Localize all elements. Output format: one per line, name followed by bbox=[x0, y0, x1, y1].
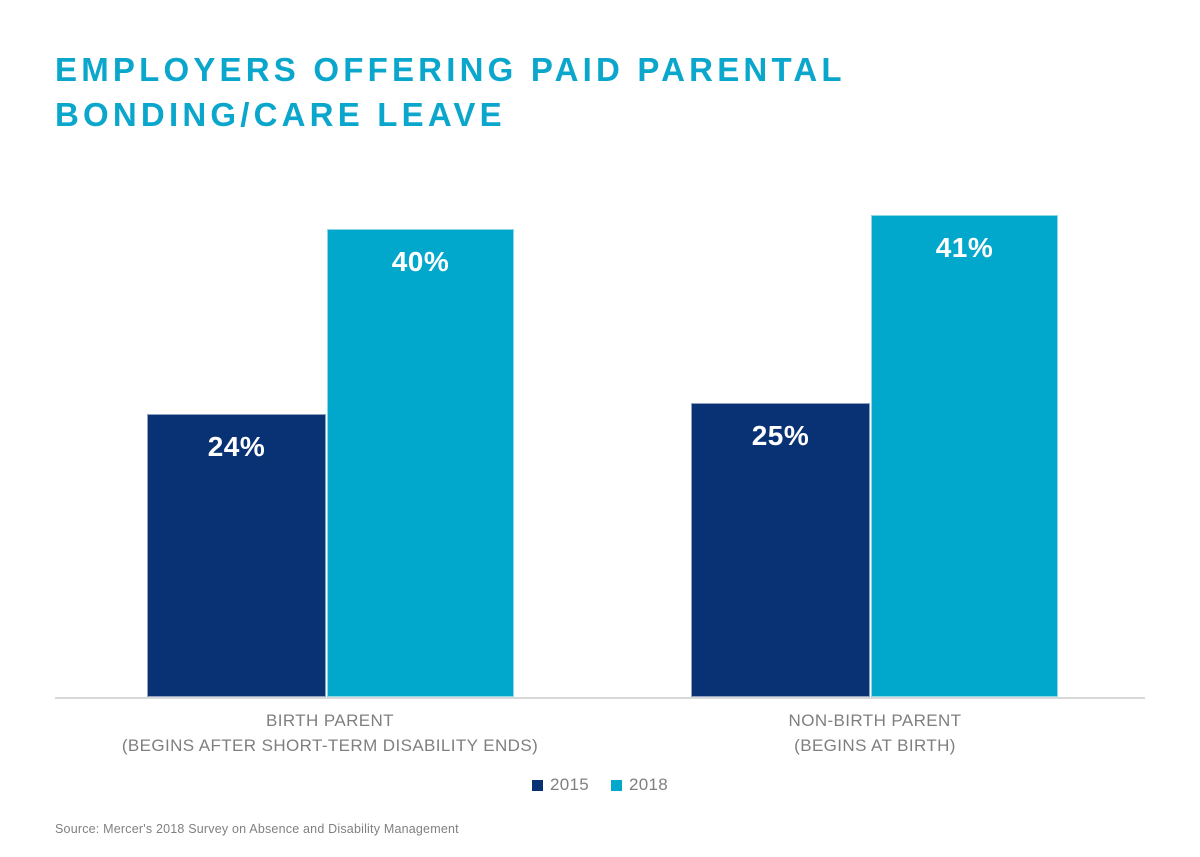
chart-legend: 2015 2018 bbox=[0, 775, 1200, 795]
bar-value-label: 40% bbox=[328, 246, 513, 278]
square-swatch-icon bbox=[611, 780, 622, 791]
category-label-non-birth-parent: NON-BIRTH PARENT (BEGINS AT BIRTH) bbox=[625, 708, 1125, 758]
x-axis-line bbox=[55, 697, 1145, 699]
bar-value-label: 24% bbox=[148, 431, 325, 463]
square-swatch-icon bbox=[532, 780, 543, 791]
legend-item-2015[interactable]: 2015 bbox=[532, 775, 589, 795]
source-note: Source: Mercer's 2018 Survey on Absence … bbox=[55, 822, 459, 836]
legend-label: 2015 bbox=[550, 775, 589, 795]
bar-value-label: 41% bbox=[872, 232, 1057, 264]
category-label-birth-parent: BIRTH PARENT (BEGINS AFTER SHORT-TERM DI… bbox=[80, 708, 580, 758]
bar-2015-non-birth-parent[interactable]: 25% bbox=[691, 403, 870, 697]
bar-value-label: 25% bbox=[692, 420, 869, 452]
bar-2015-birth-parent[interactable]: 24% bbox=[147, 414, 326, 697]
bar-2018-birth-parent[interactable]: 40% bbox=[327, 229, 514, 697]
legend-label: 2018 bbox=[629, 775, 668, 795]
legend-item-2018[interactable]: 2018 bbox=[611, 775, 668, 795]
bar-2018-non-birth-parent[interactable]: 41% bbox=[871, 215, 1058, 697]
plot-area: 24% 40% 25% 41% bbox=[0, 0, 1200, 710]
